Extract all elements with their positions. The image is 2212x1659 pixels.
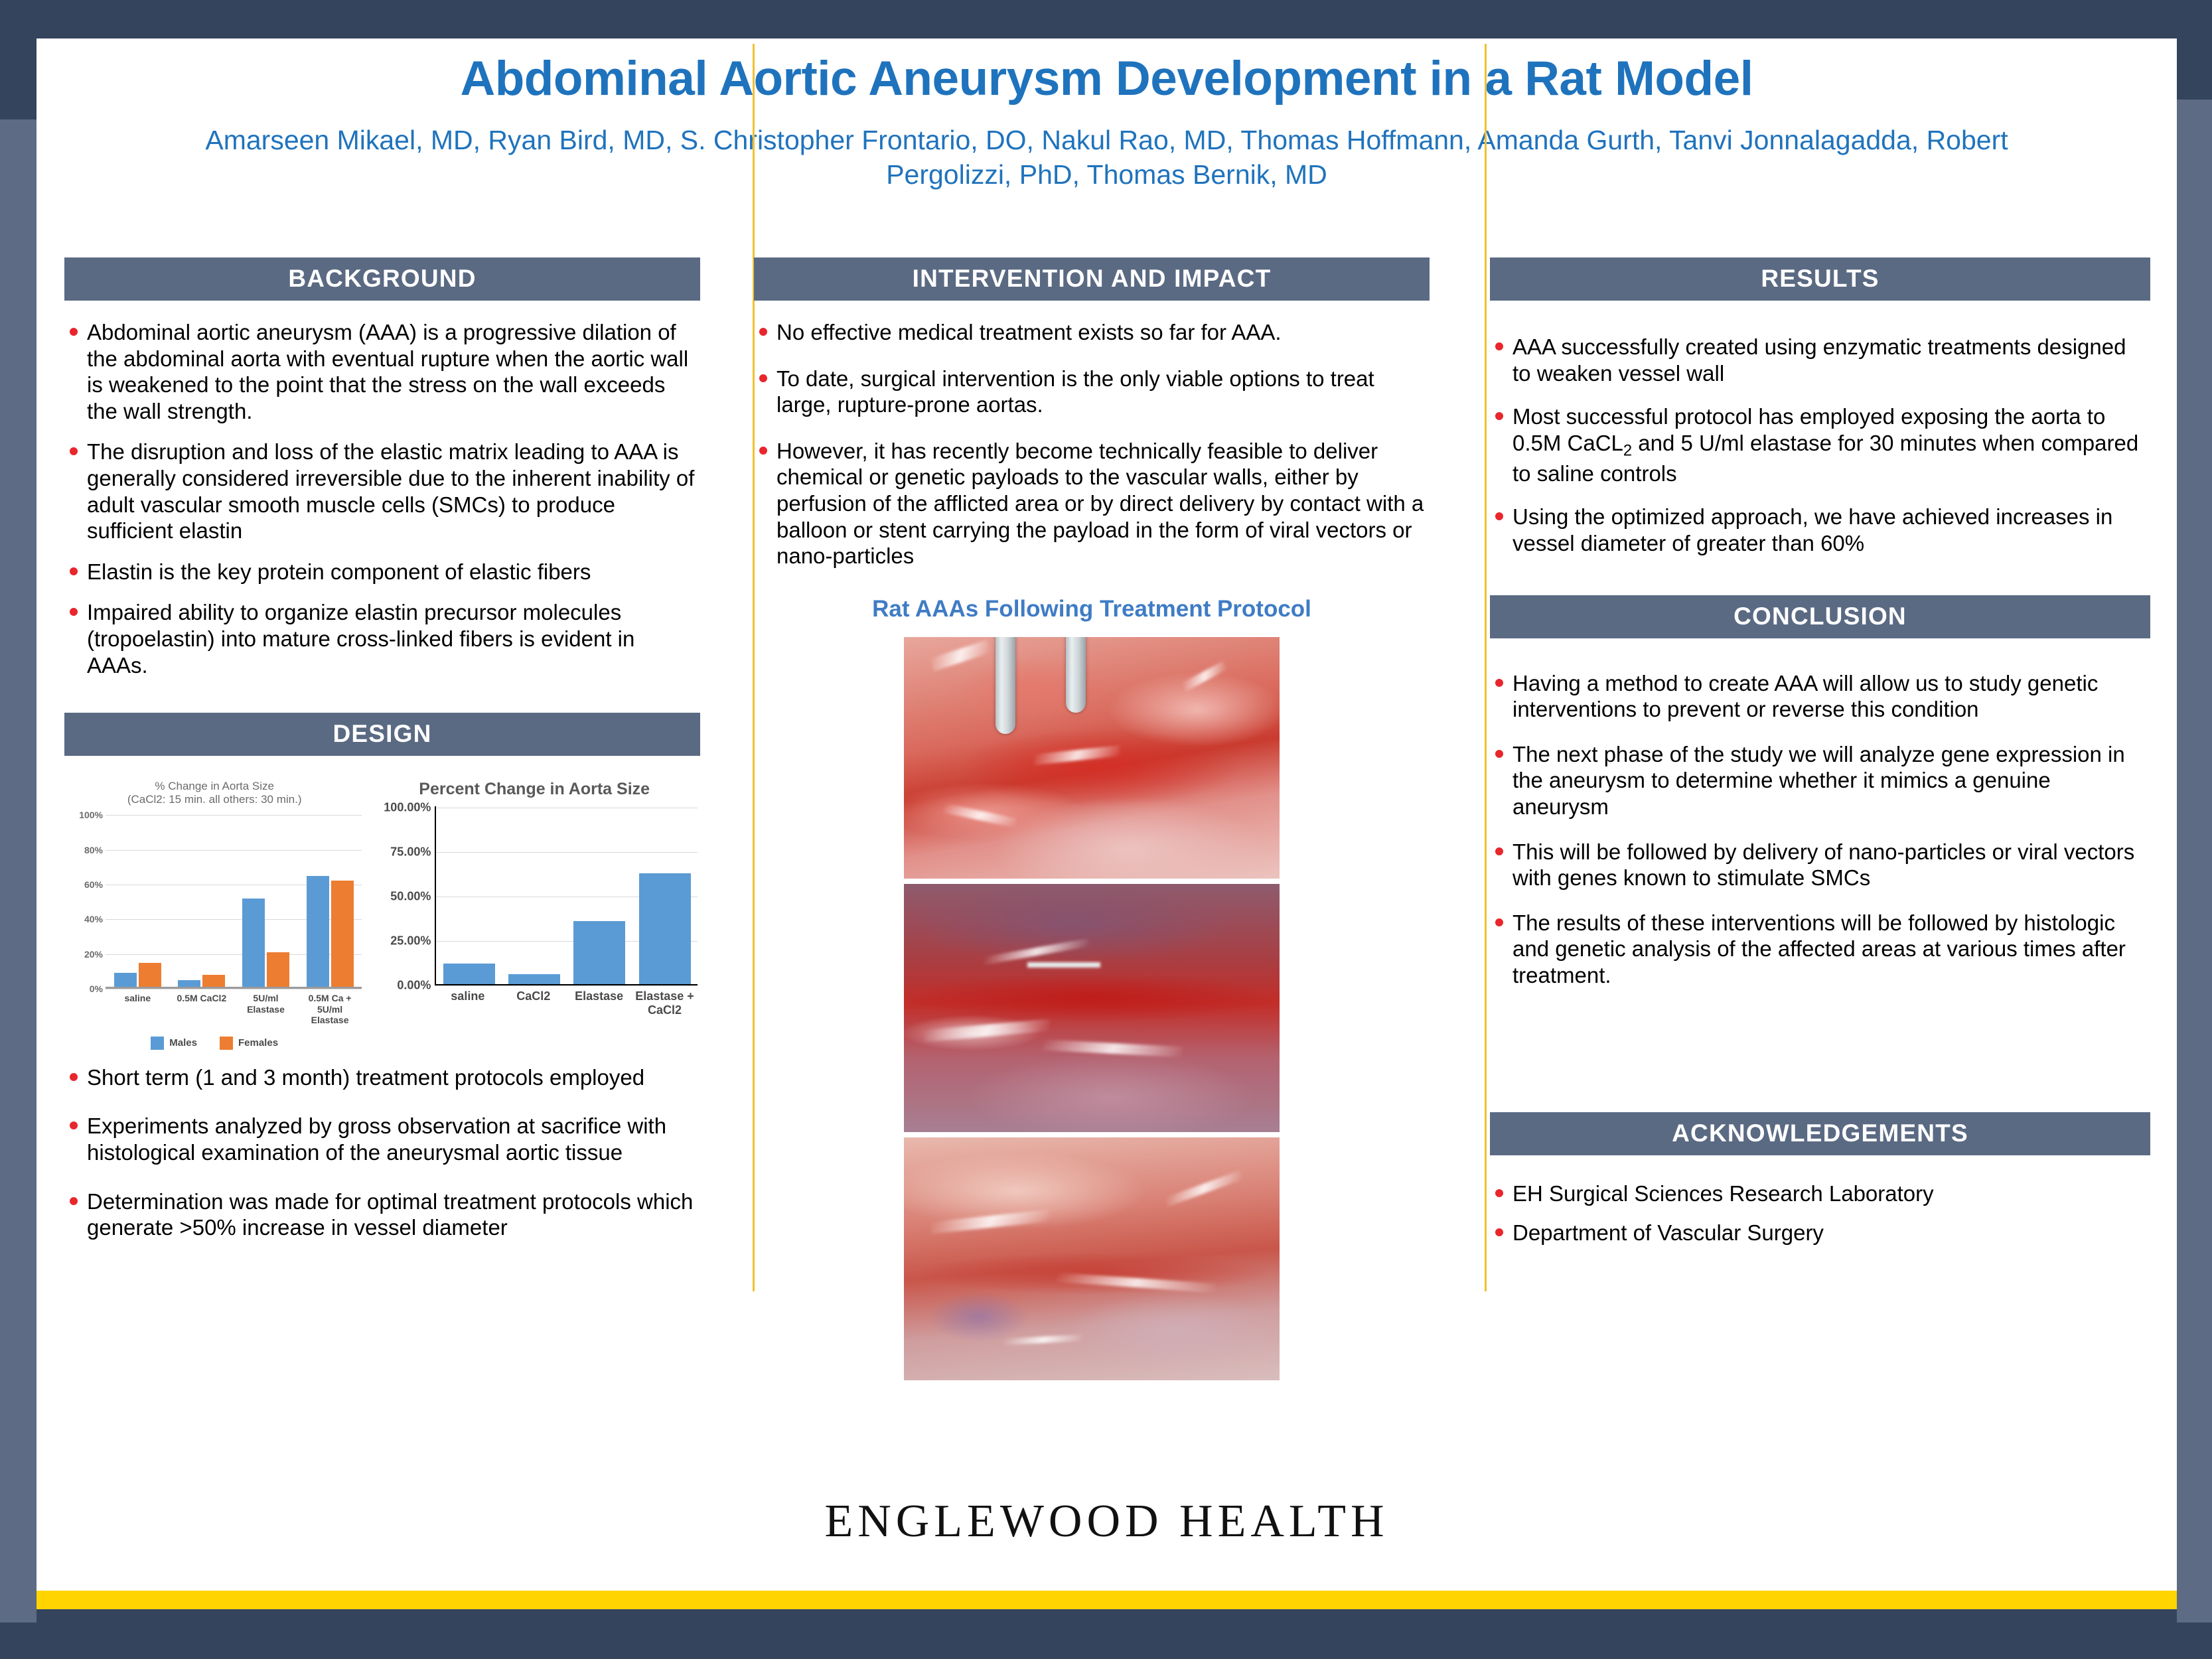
page-title: Abdominal Aortic Aneurysm Development in… [116,53,2097,106]
chart-title: % Change in Aorta Size (CaCl2: 15 min. a… [67,780,362,806]
chart-y-tick-label: 100.00% [371,800,431,814]
section-header-intervention: INTERVENTION AND IMPACT [754,257,1430,301]
chart-bar [331,881,354,987]
chart-title: Percent Change in Aorta Size [371,780,698,800]
chart-legend-item: Females [220,1037,278,1050]
chart-y-tick-label: 0.00% [371,978,431,992]
section-header-conclusion: CONCLUSION [1490,595,2150,638]
section-header-design: DESIGN [64,713,700,756]
chart-plot-area: 0%20%40%60%80%100% [67,813,362,989]
chart-x-tick-label: saline [106,993,170,1026]
chart-bars [436,806,698,984]
specular-highlight [944,803,1017,828]
list-item: The disruption and loss of the elastic m… [64,439,700,543]
chart-y-tick-label: 50.00% [371,889,431,903]
list-item: However, it has recently become technica… [754,438,1430,569]
chart-x-tick-label: 0.5M Ca + 5U/ml Elastase [298,993,362,1026]
chart-legend-swatch [220,1037,233,1050]
chart-y-tick-label: 20% [67,949,103,960]
chart-bar [202,975,225,987]
specular-highlight [984,938,1090,965]
chart-bar-group [298,813,362,987]
list-item: Most successful protocol has employed ex… [1490,403,2150,486]
design-bullet-list: Short term (1 and 3 month) treatment pro… [64,1064,700,1241]
chart-bar-group [106,813,170,987]
chart-legend-label: Males [169,1037,197,1048]
poster-columns: BACKGROUND Abdominal aortic aneurysm (AA… [37,257,2177,1538]
chart-x-tick-labels: salineCaCl2ElastaseElastase + CaCl2 [435,989,698,1017]
list-item: Impaired ability to organize elastin pre… [64,599,700,678]
specular-highlight [1165,1171,1243,1206]
chart-y-tick-label: 25.00% [371,934,431,948]
footer-dark-band [37,1609,2177,1631]
chart-y-tick-label: 100% [67,810,103,820]
list-item: Using the optimized approach, we have ac… [1490,504,2150,556]
specular-highlight [1057,1272,1216,1293]
author-list: Amarseen Mikael, MD, Ryan Bird, MD, S. C… [116,123,2097,192]
chart-bar [443,964,495,984]
chemical-subscript: 2 [1623,441,1632,459]
retractor-probe-icon [995,637,1015,734]
specular-highlight [1003,1334,1083,1345]
chart-x-tick-label: 5U/ml Elastase [234,993,298,1026]
retractor-probe-icon [1066,637,1086,713]
frame-left-band [0,119,41,1659]
chart-title-line1: % Change in Aorta Size [67,780,362,793]
section-header-acknowledgements: ACKNOWLEDGEMENTS [1490,1112,2150,1155]
list-item: This will be followed by delivery of nan… [1490,839,2150,891]
list-item: Elastin is the key protein component of … [64,559,700,585]
measurement-marker [1027,962,1100,968]
chart-x-axis [435,984,698,985]
list-item: No effective medical treatment exists so… [754,319,1430,346]
list-item: Abdominal aortic aneurysm (AAA) is a pro… [64,319,700,424]
list-item: Experiments analyzed by gross observatio… [64,1113,700,1165]
chart-legend-item: Males [151,1037,197,1050]
chart-bar [573,921,625,984]
chart-x-tick-label: saline [435,989,500,1017]
photo-dilated-aorta-closeup [904,884,1280,1132]
section-header-results: RESULTS [1490,257,2150,301]
frame-right-band [2174,100,2212,1659]
chart-y-tick-label: 0% [67,983,103,994]
poster-header: Abdominal Aortic Aneurysm Development in… [37,38,2177,192]
footer-gold-band [37,1591,2177,1609]
list-item: Department of Vascular Surgery [1490,1220,2150,1246]
chart-bar [139,963,161,987]
list-item: The results of these interventions will … [1490,910,2150,989]
chart-bar-group [170,813,234,987]
chart-y-tick-label: 40% [67,914,103,924]
conclusion-bullet-list: Having a method to create AAA will allow… [1490,670,2150,989]
chart-x-tick-label: Elastase [566,989,632,1017]
chart-bar-group [567,806,632,984]
chart-x-tick-labels: saline0.5M CaCl25U/ml Elastase0.5M Ca + … [106,993,362,1026]
column-left: BACKGROUND Abdominal aortic aneurysm (AA… [37,257,723,1538]
chart-x-tick-label: Elastase + CaCl2 [632,989,698,1017]
results-bullet-list: AAA successfully created using enzymatic… [1490,334,2150,557]
chart-gridline [106,989,362,989]
chart-bar [307,876,329,987]
chart-bar-group [632,806,698,984]
chart-y-tick-label: 60% [67,879,103,890]
list-item: The next phase of the study we will anal… [1490,741,2150,820]
chart-legend-swatch [151,1037,164,1050]
chart-legend: MalesFemales [67,1037,362,1050]
englewood-health-logo: ENGLEWOOD HEALTH [37,1495,2177,1548]
chart-bar [114,973,137,987]
chart-bar [178,980,200,987]
figure-photo-stack [754,637,1430,1380]
chart-legend-label: Females [238,1037,278,1048]
list-item: Short term (1 and 3 month) treatment pro… [64,1064,700,1091]
chart-y-tick-label: 75.00% [371,845,431,859]
background-bullet-list: Abdominal aortic aneurysm (AAA) is a pro… [64,319,700,678]
list-item: To date, surgical intervention is the on… [754,366,1430,418]
column-right: RESULTS AAA successfully created using e… [1460,257,2177,1538]
chart-bar [242,899,265,987]
chart-bar [267,952,289,987]
poster-canvas: Abdominal Aortic Aneurysm Development in… [37,38,2177,1631]
chart-title-line2: (CaCl2: 15 min. all others: 30 min.) [67,793,362,806]
intervention-bullet-list: No effective medical treatment exists so… [754,319,1430,569]
photo-rat-aorta-with-probes [904,637,1280,879]
photo-aorta-after-treatment [904,1137,1280,1380]
chart-bars [106,813,362,987]
list-item: Having a method to create AAA will allow… [1490,670,2150,723]
chart-bar-group [436,806,501,984]
list-item: AAA successfully created using enzymatic… [1490,334,2150,386]
chart-percent-change-by-sex: % Change in Aorta Size (CaCl2: 15 min. a… [67,780,362,1050]
chart-percent-change-overall: Percent Change in Aorta Size 0.00%25.00%… [371,780,698,1050]
chart-bar-group [502,806,567,984]
column-middle: INTERVENTION AND IMPACT No effective med… [723,257,1460,1538]
specular-highlight [1182,661,1227,691]
specular-highlight [1043,1039,1183,1057]
list-item: EH Surgical Sciences Research Laboratory [1490,1181,2150,1207]
chart-gridline [435,985,698,986]
chart-x-tick-label: 0.5M CaCl2 [170,993,234,1026]
specular-highlight [924,1019,1051,1042]
chart-plot-area: 0.00%25.00%50.00%75.00%100.00% [371,806,698,985]
acknowledgements-bullet-list: EH Surgical Sciences Research Laboratory… [1490,1181,2150,1246]
chart-bar-group [234,813,298,987]
specular-highlight [930,640,991,671]
chart-bar [508,974,560,984]
figure-caption: Rat AAAs Following Treatment Protocol [754,596,1430,622]
design-charts: % Change in Aorta Size (CaCl2: 15 min. a… [64,780,700,1050]
chart-y-tick-label: 80% [67,845,103,855]
specular-highlight [930,1209,1051,1234]
specular-highlight [1034,745,1121,765]
section-header-background: BACKGROUND [64,257,700,301]
chart-x-axis [106,987,362,989]
list-item: Determination was made for optimal treat… [64,1189,700,1241]
chart-bar [639,873,691,983]
chart-x-tick-label: CaCl2 [500,989,566,1017]
